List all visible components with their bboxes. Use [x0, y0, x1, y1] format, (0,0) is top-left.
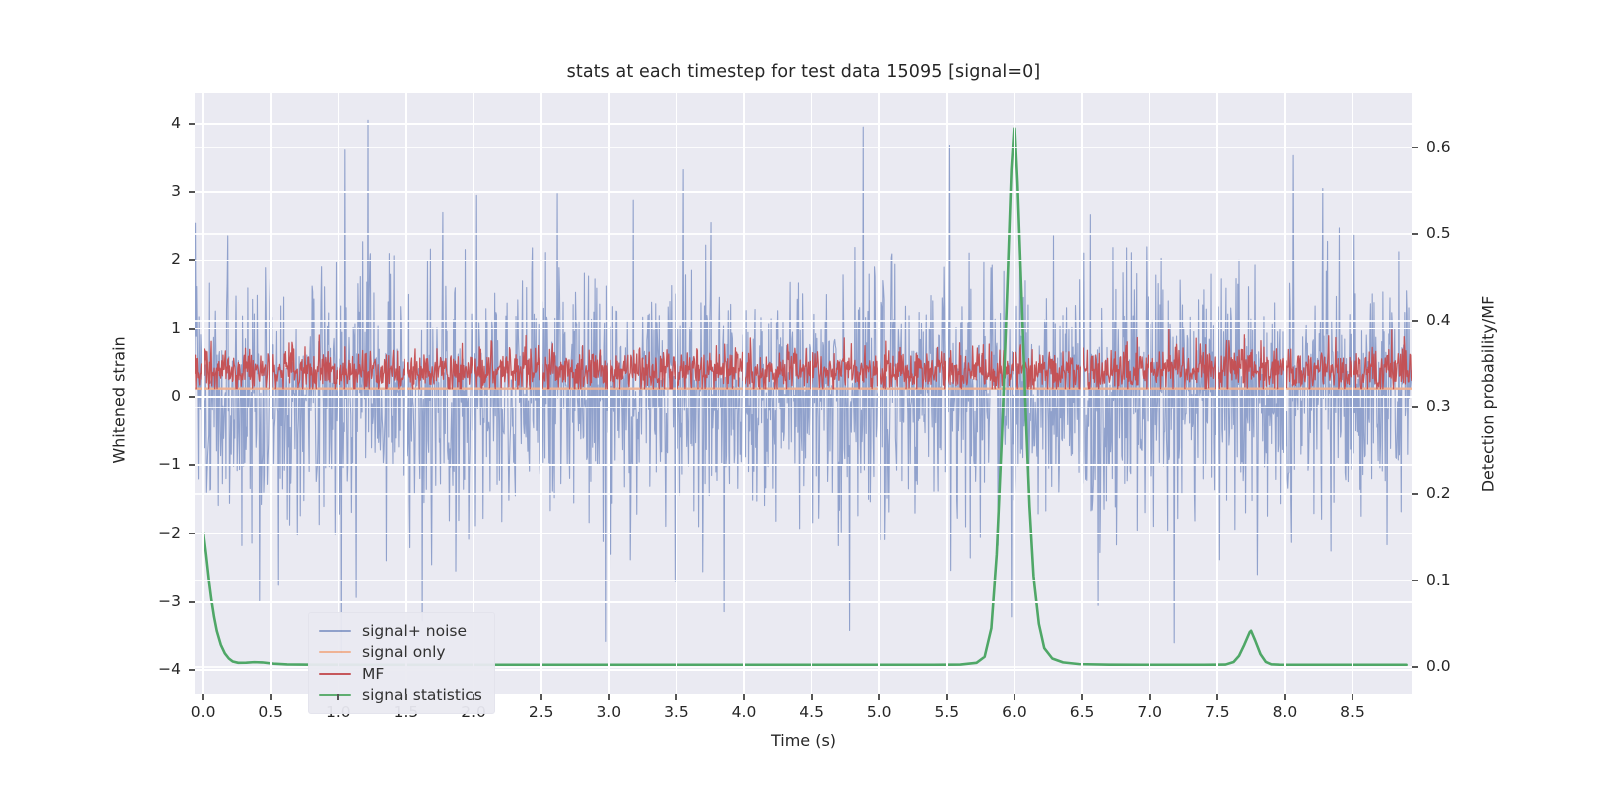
y-tick-mark-left — [189, 669, 195, 671]
y-axis-right-tick-label: 0.5 — [1426, 224, 1496, 242]
grid-line-horizontal-secondary — [195, 320, 1412, 322]
y-axis-right-label: Detection probability/MF — [1479, 296, 1498, 493]
x-axis-tick-label: 6.5 — [1052, 703, 1112, 721]
x-axis-tick-label: 7.0 — [1120, 703, 1180, 721]
x-tick-mark — [675, 694, 677, 700]
grid-line-vertical — [878, 93, 880, 694]
legend-item[interactable]: signal statistics — [319, 685, 482, 707]
grid-line-vertical — [1149, 93, 1151, 694]
y-axis-left-tick-label: −3 — [121, 592, 181, 610]
y-axis-left-tick-label: 3 — [121, 182, 181, 200]
x-tick-mark — [1149, 694, 1151, 700]
x-tick-mark — [1081, 694, 1083, 700]
legend-color-swatch — [319, 630, 351, 632]
grid-line-vertical — [270, 93, 272, 694]
x-axis-tick-label: 7.5 — [1187, 703, 1247, 721]
x-axis-label: Time (s) — [195, 731, 1412, 750]
legend-item[interactable]: signal+ noise — [319, 620, 482, 642]
grid-line-horizontal-secondary — [195, 493, 1412, 495]
grid-line-horizontal — [195, 328, 1412, 330]
x-axis-tick-label: 5.0 — [849, 703, 909, 721]
grid-line-horizontal — [195, 260, 1412, 262]
grid-line-vertical — [1081, 93, 1083, 694]
x-axis-tick-label: 8.0 — [1255, 703, 1315, 721]
legend-item-label: signal only — [362, 643, 446, 661]
y-axis-left-label: Whitened strain — [110, 336, 129, 463]
x-axis-tick-label: 6.0 — [984, 703, 1044, 721]
legend-item-label: MF — [362, 665, 384, 683]
x-tick-mark — [473, 694, 475, 700]
x-axis-tick-label: 3.0 — [579, 703, 639, 721]
y-tick-mark-right — [1412, 233, 1418, 235]
y-axis-right-tick-label: 0.6 — [1426, 138, 1496, 156]
grid-line-vertical — [1216, 93, 1218, 694]
x-tick-mark — [1352, 694, 1354, 700]
legend-item-label: signal+ noise — [362, 622, 467, 640]
grid-line-vertical — [676, 93, 678, 694]
y-tick-mark-left — [189, 601, 195, 603]
x-axis-tick-label: 3.5 — [646, 703, 706, 721]
x-tick-mark — [405, 694, 407, 700]
grid-line-horizontal — [195, 123, 1412, 125]
y-tick-mark-right — [1412, 406, 1418, 408]
y-tick-mark-left — [189, 191, 195, 193]
legend-color-swatch — [319, 651, 351, 653]
x-axis-tick-label: 0.5 — [241, 703, 301, 721]
x-tick-mark — [270, 694, 272, 700]
grid-line-horizontal — [195, 396, 1412, 398]
x-axis-tick-label: 4.5 — [782, 703, 842, 721]
grid-line-vertical — [811, 93, 813, 694]
legend-item-label: signal statistics — [362, 686, 482, 704]
chart-legend[interactable]: signal+ noisesignal onlyMFsignal statist… — [308, 612, 495, 714]
y-tick-mark-left — [189, 328, 195, 330]
x-tick-mark — [608, 694, 610, 700]
y-tick-mark-left — [189, 123, 195, 125]
x-axis-tick-label: 8.5 — [1323, 703, 1383, 721]
grid-line-horizontal-secondary — [195, 580, 1412, 582]
x-tick-mark — [1014, 694, 1016, 700]
grid-line-horizontal-secondary — [195, 147, 1412, 149]
y-tick-mark-left — [189, 396, 195, 398]
x-tick-mark — [811, 694, 813, 700]
x-axis-tick-label: 4.0 — [714, 703, 774, 721]
x-tick-mark — [946, 694, 948, 700]
y-axis-left-tick-label: 4 — [121, 114, 181, 132]
grid-line-vertical — [743, 93, 745, 694]
x-tick-mark — [540, 694, 542, 700]
grid-line-vertical — [608, 93, 610, 694]
x-axis-tick-label: 0.0 — [173, 703, 233, 721]
y-axis-left-tick-label: 1 — [121, 319, 181, 337]
grid-line-horizontal-secondary — [195, 233, 1412, 235]
y-axis-left-tick-label: −4 — [121, 660, 181, 678]
y-tick-mark-left — [189, 464, 195, 466]
grid-line-vertical — [946, 93, 948, 694]
y-axis-right-tick-label: 0.0 — [1426, 657, 1496, 675]
grid-line-vertical — [338, 93, 340, 694]
grid-layer — [195, 93, 1412, 694]
y-tick-mark-right — [1412, 580, 1418, 582]
y-tick-mark-right — [1412, 666, 1418, 668]
grid-line-vertical — [473, 93, 475, 694]
x-axis-tick-label: 2.5 — [511, 703, 571, 721]
y-tick-mark-right — [1412, 147, 1418, 149]
grid-line-vertical — [1014, 93, 1016, 694]
grid-line-horizontal — [195, 533, 1412, 535]
legend-item[interactable]: MF — [319, 663, 482, 685]
grid-line-horizontal — [195, 601, 1412, 603]
y-axis-left-tick-label: 2 — [121, 250, 181, 268]
x-axis-tick-label: 5.5 — [917, 703, 977, 721]
grid-line-horizontal-secondary — [195, 407, 1412, 409]
x-tick-mark — [878, 694, 880, 700]
y-tick-mark-left — [189, 259, 195, 261]
y-tick-mark-right — [1412, 320, 1418, 322]
matplotlib-figure: stats at each timestep for test data 150… — [0, 0, 1600, 800]
y-axis-left-tick-label: 0 — [121, 387, 181, 405]
x-tick-mark — [743, 694, 745, 700]
grid-line-vertical — [540, 93, 542, 694]
y-axis-left-tick-label: −1 — [121, 455, 181, 473]
grid-line-horizontal — [195, 464, 1412, 466]
x-tick-mark — [1216, 694, 1218, 700]
plot-axes — [195, 93, 1412, 694]
legend-color-swatch — [319, 694, 351, 696]
x-tick-mark — [337, 694, 339, 700]
chart-title: stats at each timestep for test data 150… — [195, 62, 1412, 82]
y-tick-mark-left — [189, 533, 195, 535]
grid-line-vertical — [405, 93, 407, 694]
grid-line-vertical — [1352, 93, 1354, 694]
y-tick-mark-right — [1412, 493, 1418, 495]
grid-line-horizontal — [195, 191, 1412, 193]
y-axis-left-tick-label: −2 — [121, 524, 181, 542]
y-axis-right-tick-label: 0.1 — [1426, 571, 1496, 589]
grid-line-vertical — [1284, 93, 1286, 694]
x-tick-mark — [1284, 694, 1286, 700]
x-tick-mark — [202, 694, 204, 700]
grid-line-vertical — [202, 93, 204, 694]
legend-item[interactable]: signal only — [319, 642, 482, 664]
legend-color-swatch — [319, 673, 351, 675]
